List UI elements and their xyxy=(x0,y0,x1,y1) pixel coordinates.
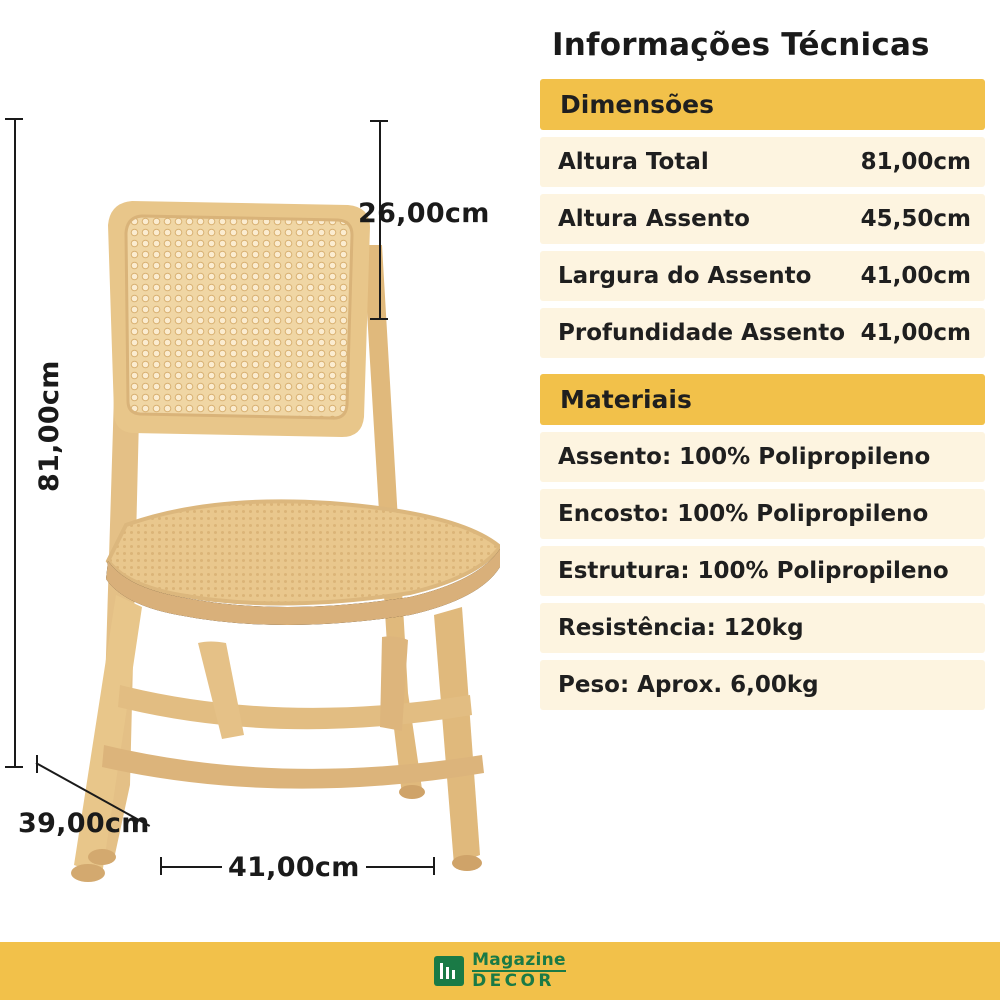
brand-name-line2: DECOR xyxy=(472,970,566,990)
logo-mark-icon xyxy=(434,956,464,986)
dim-cap-width-right xyxy=(433,857,435,875)
table-row: Largura do Assento 41,00cm xyxy=(540,251,985,301)
dim-label-depth: 39,00cm xyxy=(18,808,150,839)
section-header-dimensions: Dimensões xyxy=(540,79,985,130)
table-row: Resistência: 120kg xyxy=(540,603,985,653)
row-label: Peso: Aprox. 6,00kg xyxy=(558,672,819,698)
dim-cap-back-bottom xyxy=(370,318,388,320)
row-label: Largura do Assento xyxy=(558,263,811,289)
dim-label-back-height: 26,00cm xyxy=(358,198,490,229)
technical-info-panel: Informações Técnicas Dimensões Altura To… xyxy=(540,0,985,940)
dim-cap-width-left xyxy=(160,857,162,875)
brand-logo: Magazine DECOR xyxy=(434,952,566,990)
row-label: Estrutura: 100% Polipropileno xyxy=(558,558,949,584)
table-row: Profundidade Assento 41,00cm xyxy=(540,308,985,358)
row-label: Altura Total xyxy=(558,149,709,175)
dim-line-total-height xyxy=(14,118,16,768)
row-label: Encosto: 100% Polipropileno xyxy=(558,501,928,527)
row-value: 41,00cm xyxy=(861,320,971,346)
row-label: Altura Assento xyxy=(558,206,750,232)
row-value: 41,00cm xyxy=(861,263,971,289)
row-label: Profundidade Assento xyxy=(558,320,845,346)
dim-label-width: 41,00cm xyxy=(222,852,366,883)
product-spec-sheet: 26,00cm 81,00cm 39,00cm 41,00cm Informaç… xyxy=(0,0,1000,1000)
row-label: Resistência: 120kg xyxy=(558,615,804,641)
brand-logo-text: Magazine DECOR xyxy=(472,952,566,990)
row-label: Assento: 100% Polipropileno xyxy=(558,444,930,470)
table-row: Altura Assento 45,50cm xyxy=(540,194,985,244)
brand-name-line1: Magazine xyxy=(472,952,566,969)
footer-bar: Magazine DECOR xyxy=(0,942,1000,1000)
dim-label-total-height: 81,00cm xyxy=(34,360,65,492)
table-row: Estrutura: 100% Polipropileno xyxy=(540,546,985,596)
dim-cap-total-bottom xyxy=(5,766,23,768)
dim-cap-depth-start xyxy=(36,755,38,773)
product-illustration-panel: 26,00cm 81,00cm 39,00cm 41,00cm xyxy=(0,0,520,940)
table-row: Encosto: 100% Polipropileno xyxy=(540,489,985,539)
table-row: Assento: 100% Polipropileno xyxy=(540,432,985,482)
dim-cap-back-top xyxy=(370,120,388,122)
dim-cap-total-top xyxy=(5,118,23,120)
row-value: 45,50cm xyxy=(861,206,971,232)
table-row: Altura Total 81,00cm xyxy=(540,137,985,187)
table-row: Peso: Aprox. 6,00kg xyxy=(540,660,985,710)
page-title: Informações Técnicas xyxy=(552,27,985,63)
section-header-materials: Materiais xyxy=(540,374,985,425)
row-value: 81,00cm xyxy=(861,149,971,175)
